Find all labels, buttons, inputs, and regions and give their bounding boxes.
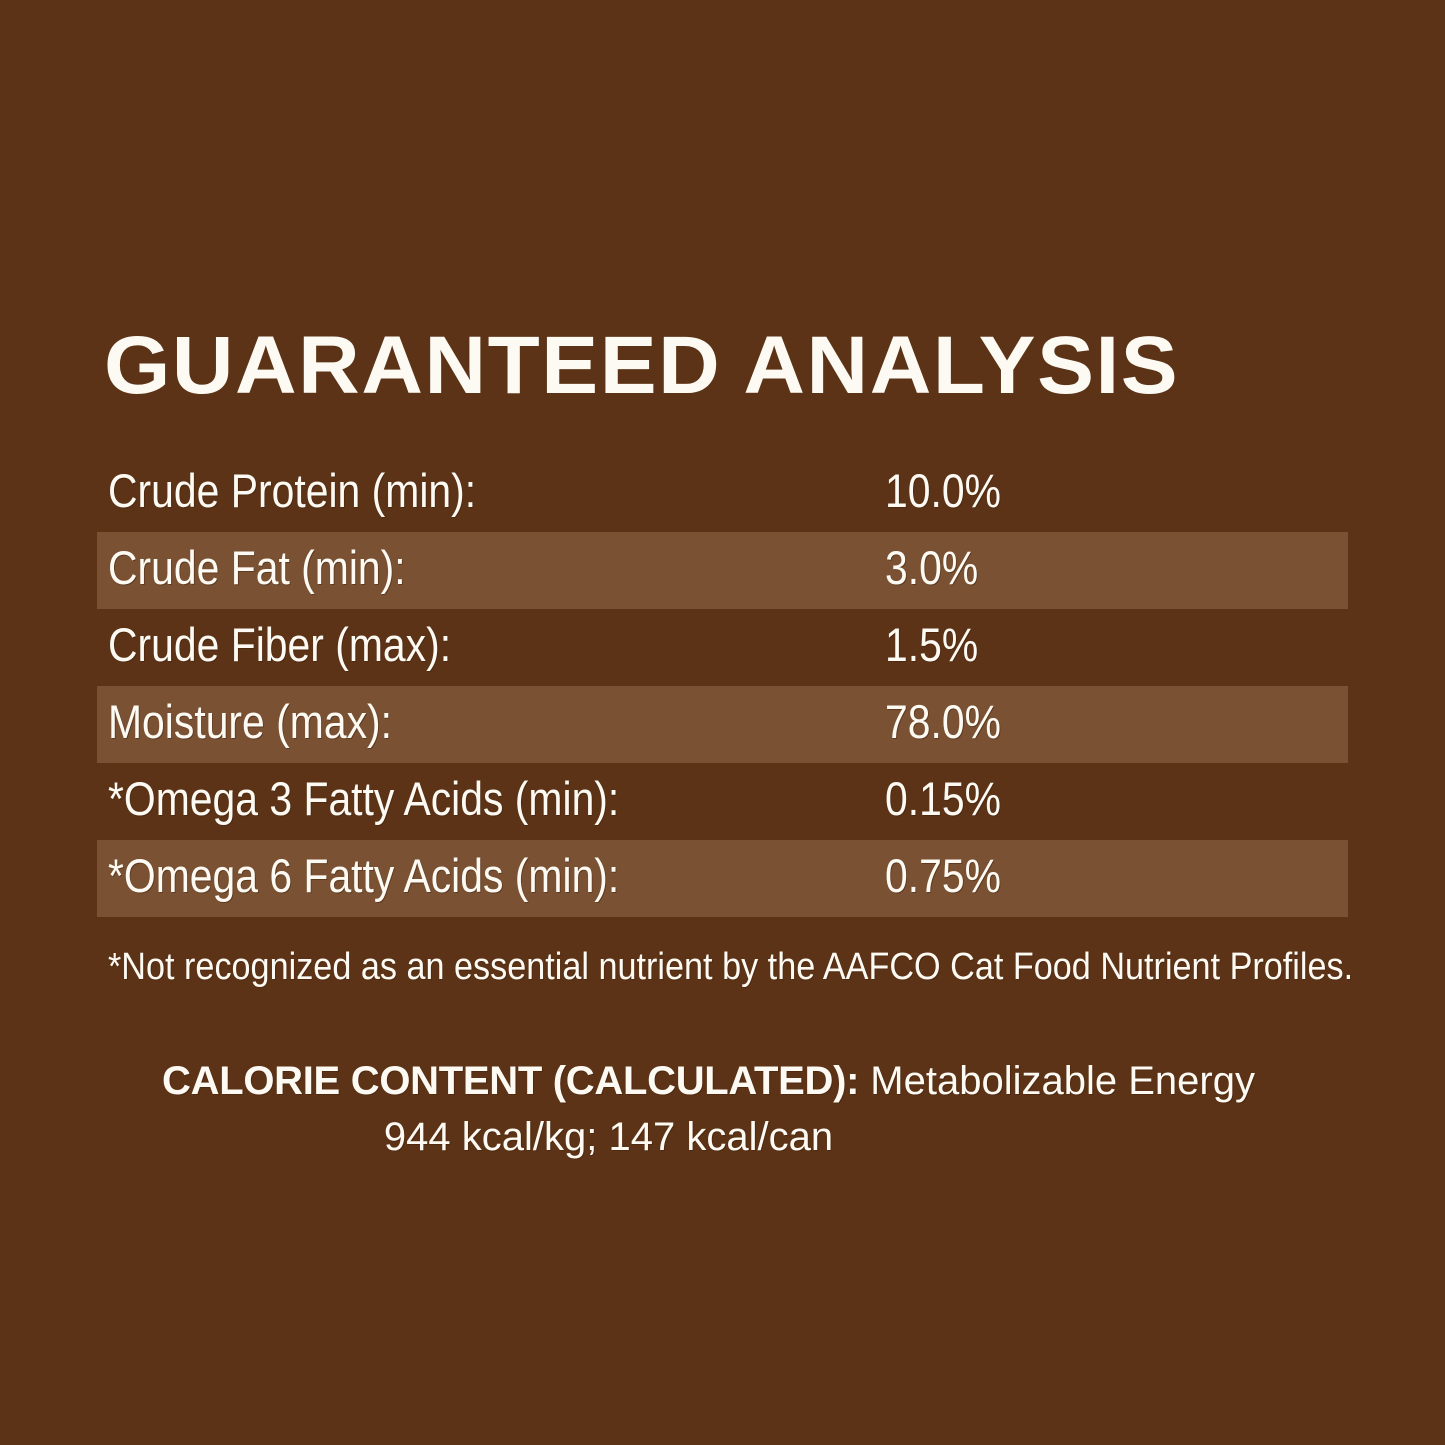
nutrient-label: *Omega 3 Fatty Acids (min): <box>108 771 619 827</box>
nutrient-label: Crude Protein (min): <box>108 463 476 519</box>
table-row: *Omega 3 Fatty Acids (min): 0.15% <box>97 763 1348 840</box>
table-row: Moisture (max): 78.0% <box>97 686 1348 763</box>
nutrient-value: 0.15% <box>885 771 1001 827</box>
nutrient-label: Crude Fat (min): <box>108 540 406 596</box>
nutrient-label: Crude Fiber (max): <box>108 617 451 673</box>
calorie-content-heading: CALORIE CONTENT (CALCULATED): <box>162 1059 859 1103</box>
nutrient-value: 78.0% <box>885 694 1001 750</box>
nutrient-value: 10.0% <box>885 463 1001 519</box>
table-row: Crude Protein (min): 10.0% <box>97 455 1348 532</box>
nutrient-value: 3.0% <box>885 540 978 596</box>
calorie-content-values: 944 kcal/kg; 147 kcal/can <box>0 1109 1445 1165</box>
nutrient-label: Moisture (max): <box>108 694 392 750</box>
guaranteed-analysis-panel: GUARANTEED ANALYSIS Crude Protein (min):… <box>0 0 1445 1445</box>
nutrient-label: *Omega 6 Fatty Acids (min): <box>108 848 619 904</box>
table-row: *Omega 6 Fatty Acids (min): 0.75% <box>97 840 1348 917</box>
table-row: Crude Fiber (max): 1.5% <box>97 609 1348 686</box>
guaranteed-analysis-table: Crude Protein (min): 10.0% Crude Fat (mi… <box>97 455 1348 917</box>
aafco-footnote: *Not recognized as an essential nutrient… <box>108 944 1251 990</box>
page-title: GUARANTEED ANALYSIS <box>104 324 1414 408</box>
calorie-content-line: CALORIE CONTENT (CALCULATED): Metaboliza… <box>0 1053 1445 1109</box>
calorie-content-energy: Metabolizable Energy <box>870 1059 1255 1103</box>
nutrient-value: 0.75% <box>885 848 1001 904</box>
calorie-content-block: CALORIE CONTENT (CALCULATED): Metaboliza… <box>0 1053 1445 1165</box>
nutrient-value: 1.5% <box>885 617 978 673</box>
table-row: Crude Fat (min): 3.0% <box>97 532 1348 609</box>
